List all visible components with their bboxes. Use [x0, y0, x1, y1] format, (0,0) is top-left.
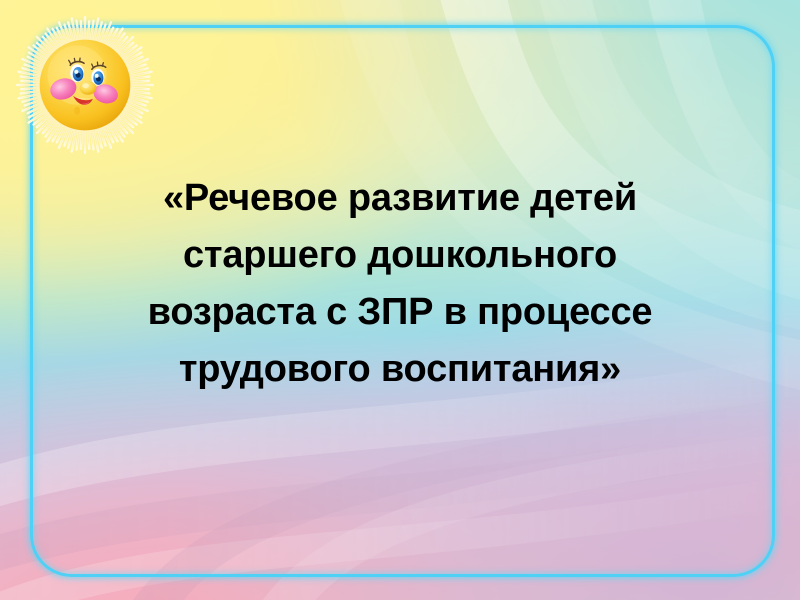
- page-title: «Речевое развитие детей старшего дошколь…: [100, 170, 700, 398]
- sun-icon: [6, 14, 164, 156]
- presentation-slide: «Речевое развитие детей старшего дошколь…: [0, 0, 800, 600]
